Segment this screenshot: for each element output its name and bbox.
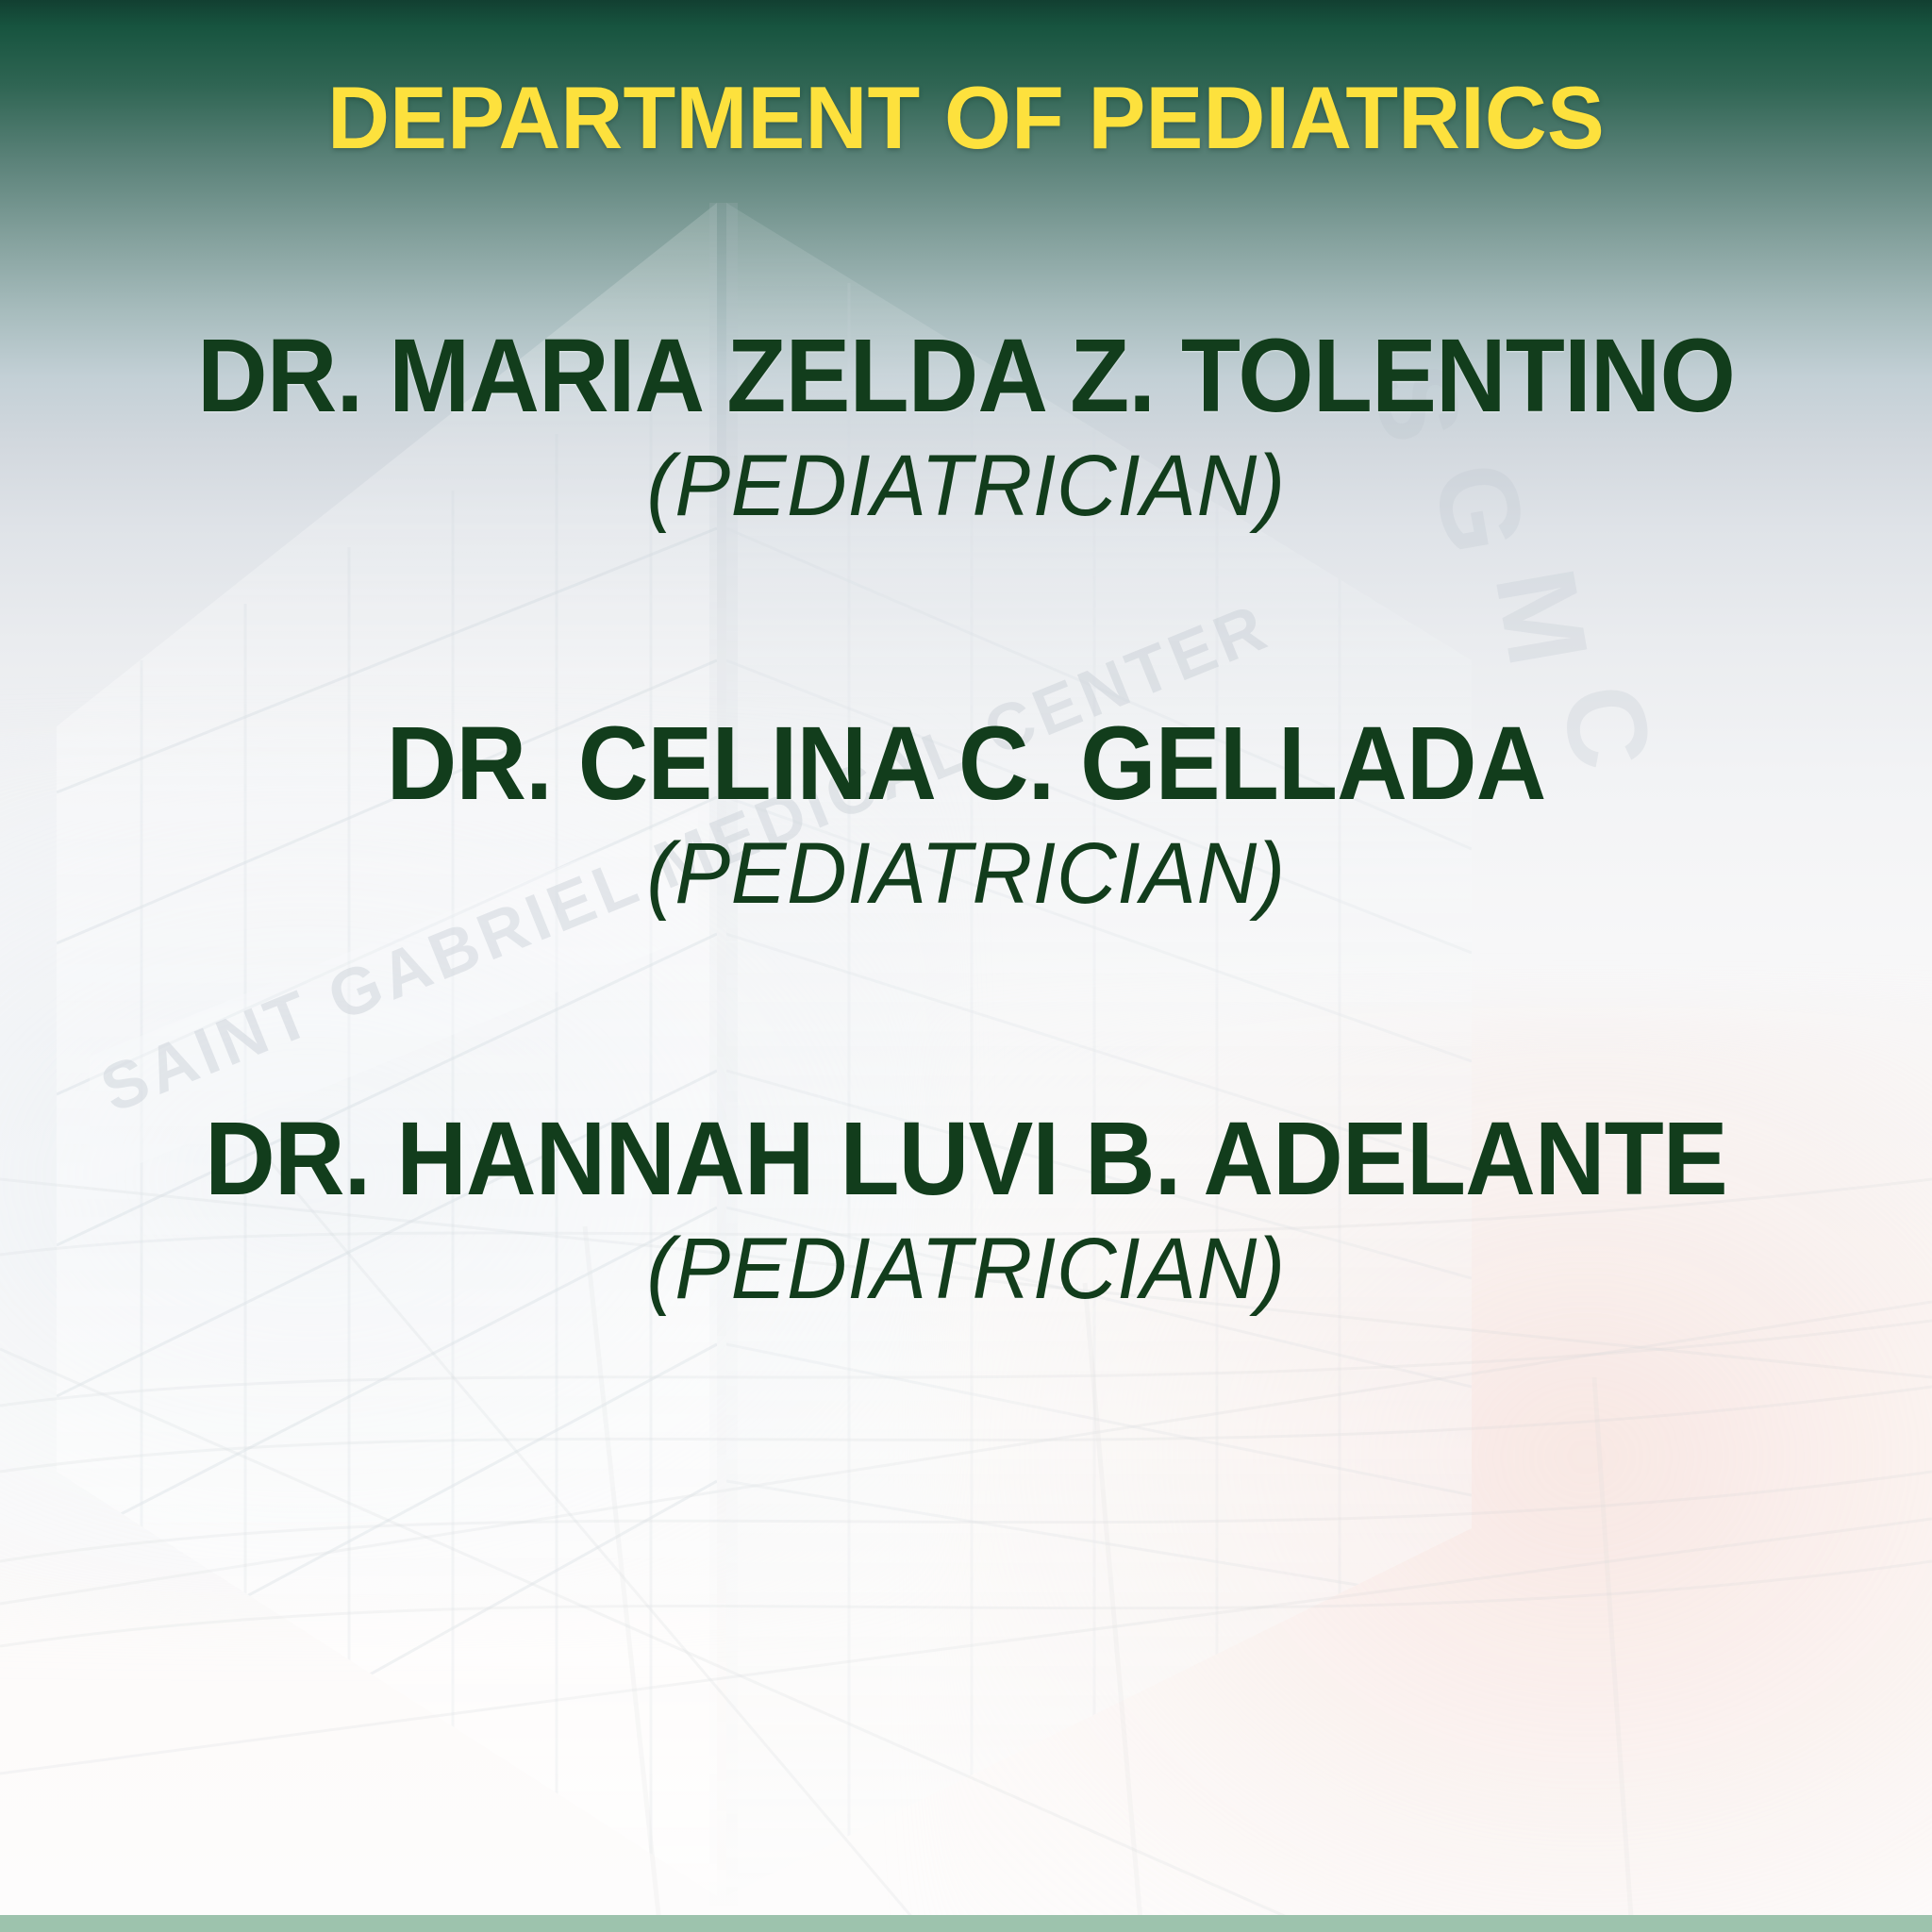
doctor-entry: DR. HANNAH LUVI B. ADELANTE (PEDIATRICIA…	[0, 1104, 1932, 1322]
doctor-name: DR. HANNAH LUVI B. ADELANTE	[58, 1104, 1874, 1216]
doctor-specialty: (PEDIATRICIAN)	[39, 433, 1893, 539]
doctor-name: DR. CELINA C. GELLADA	[58, 708, 1874, 821]
pediatrics-department-slide: SAINT GABRIEL MEDICAL CENTER S G M C	[0, 0, 1932, 1932]
doctor-entry: DR. CELINA C. GELLADA (PEDIATRICIAN)	[0, 708, 1932, 926]
doctor-entry: DR. MARIA ZELDA Z. TOLENTINO (PEDIATRICI…	[0, 321, 1932, 539]
page-title: DEPARTMENT OF PEDIATRICS	[29, 74, 1904, 162]
slide-content: DEPARTMENT OF PEDIATRICS DR. MARIA ZELDA…	[0, 0, 1932, 1932]
doctor-name: DR. MARIA ZELDA Z. TOLENTINO	[58, 321, 1874, 433]
doctor-specialty: (PEDIATRICIAN)	[39, 821, 1893, 926]
doctor-specialty: (PEDIATRICIAN)	[39, 1216, 1893, 1322]
doctor-list: DR. MARIA ZELDA Z. TOLENTINO (PEDIATRICI…	[0, 321, 1932, 1322]
bottom-accent-strip	[0, 1915, 1932, 1932]
